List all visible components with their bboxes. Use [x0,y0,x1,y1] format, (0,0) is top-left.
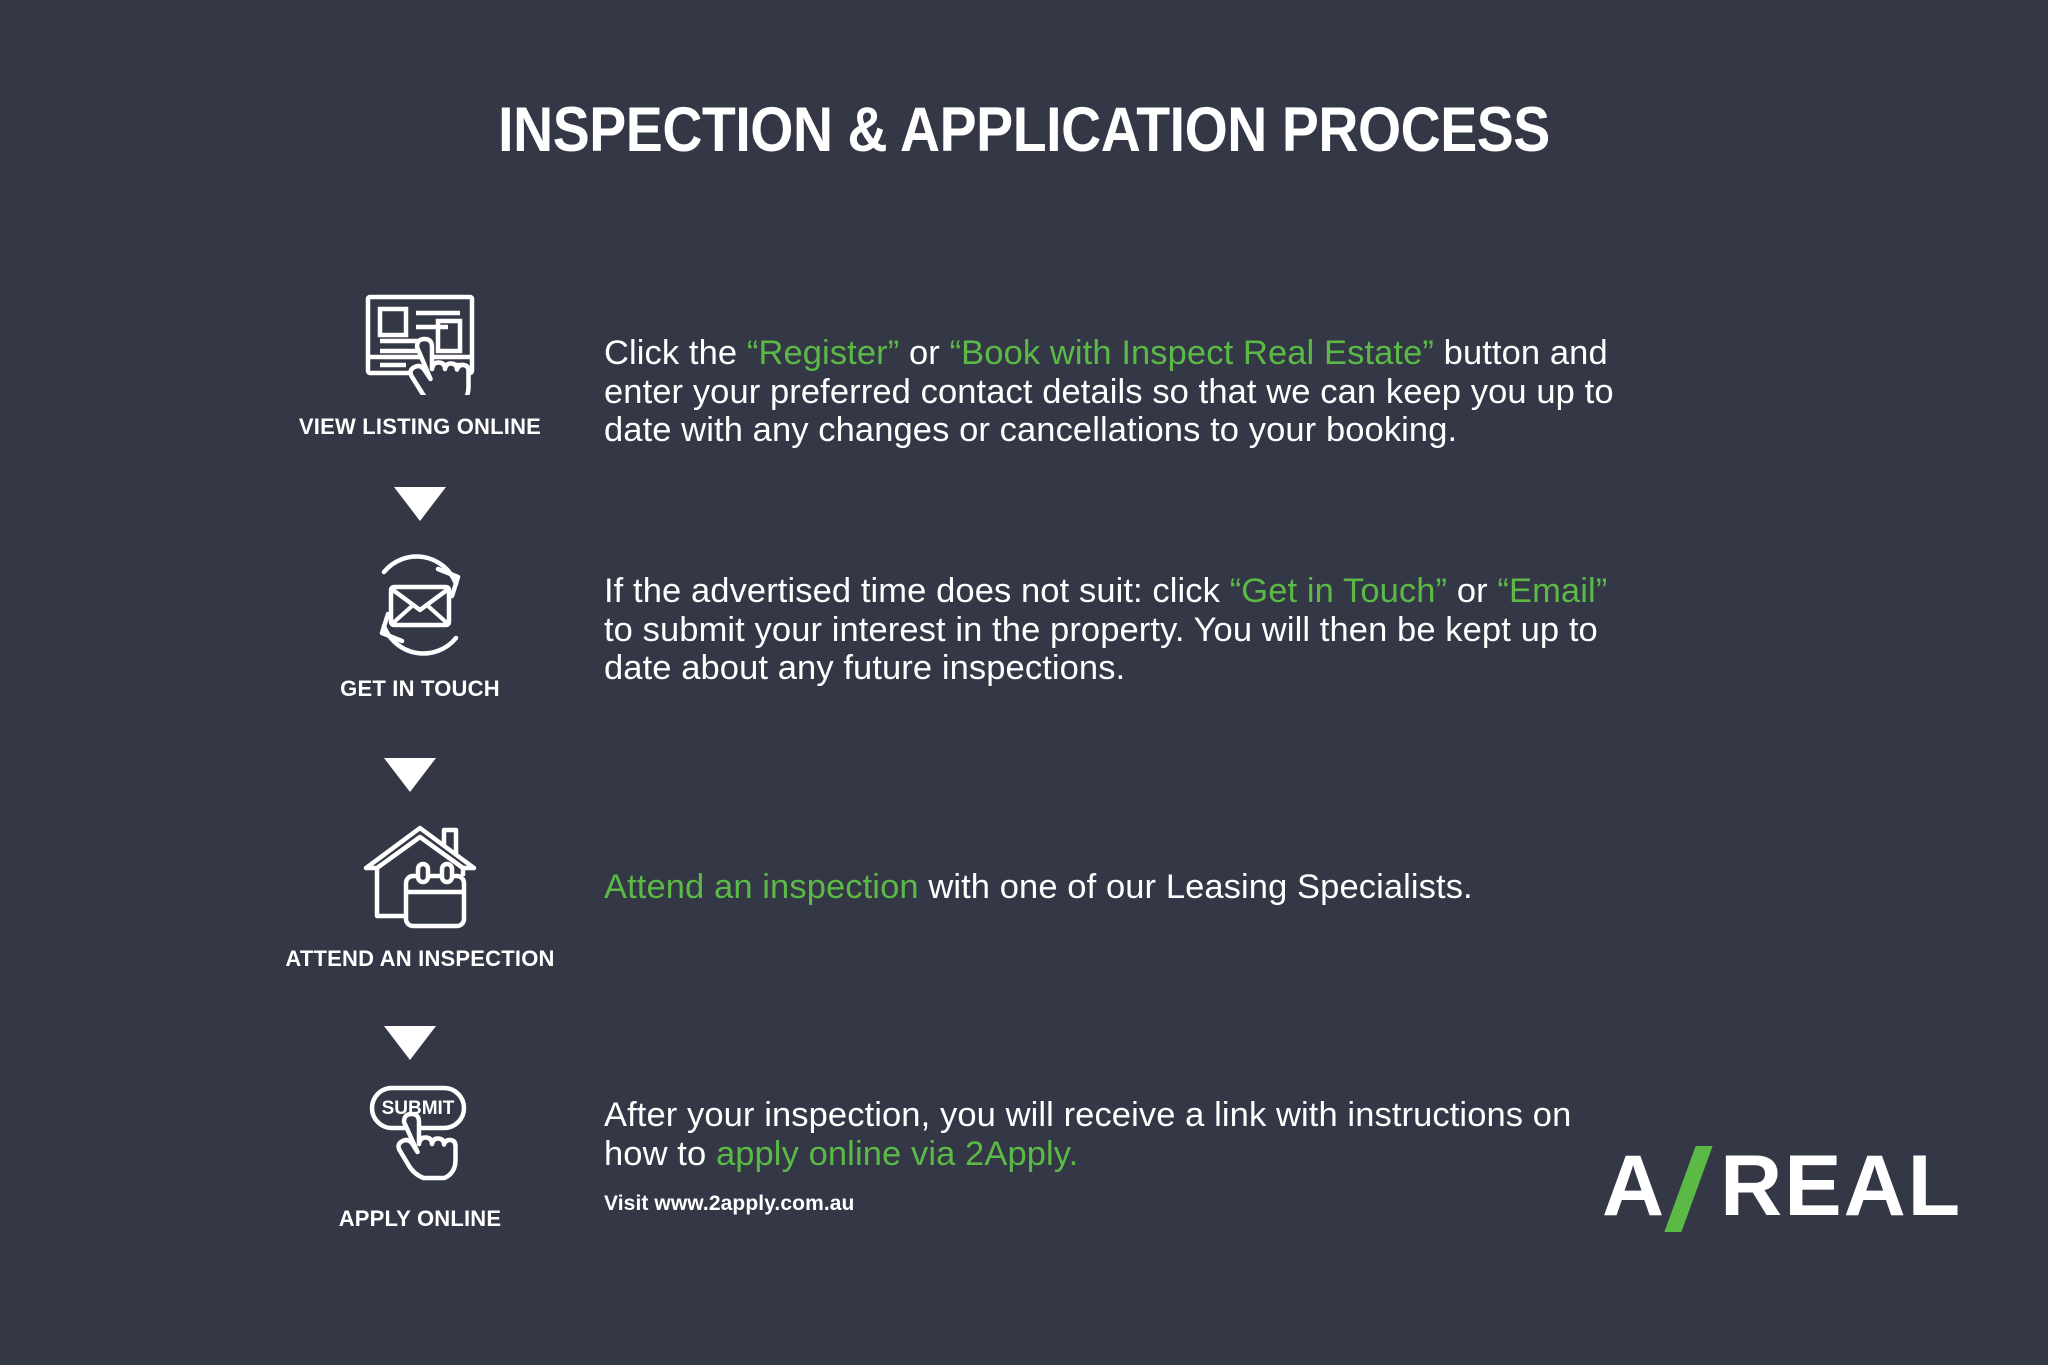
step-2-paragraph: If the advertised time does not suit: cl… [604,572,1614,688]
step-2-seg-1: “Get in Touch” [1230,572,1447,610]
step-4-icon-column: SUBMIT APPLY ONLINE [270,1080,570,1232]
step-2-seg-4: to submit your interest in the property.… [604,611,1598,688]
step-1-paragraph: Click the “Register” or “Book with Inspe… [604,334,1614,450]
step-1-icon-column: VIEW LISTING ONLINE [270,288,570,440]
house-calendar-icon [270,820,570,930]
step-arrow-1 [394,487,446,521]
step-3-seg-1: with one of our Leasing Specialists. [919,868,1473,906]
step-2-seg-2: or [1447,572,1497,610]
step-1-label: VIEW LISTING ONLINE [270,414,570,440]
step-4-label: APPLY ONLINE [270,1206,570,1232]
step-arrow-2 [384,758,436,792]
brand-logo: A REAL [1602,1140,1962,1232]
step-4-paragraph: After your inspection, you will receive … [604,1096,1614,1173]
step-3-icon-column: ATTEND AN INSPECTION [270,820,570,972]
step-1-body: Click the “Register” or “Book with Inspe… [604,334,1614,450]
step-3-paragraph: Attend an inspection with one of our Lea… [604,868,1614,907]
step-3-seg-0: Attend an inspection [604,868,919,906]
visit-website-note: Visit www.2apply.com.au [604,1192,855,1216]
logo-letter-a: A [1602,1137,1666,1236]
step-1-seg-0: Click the [604,334,747,372]
listing-page-pointer-icon [270,288,570,398]
infographic-canvas: INSPECTION & APPLICATION PROCESS [0,0,2048,1365]
step-4-seg-1: apply online via 2Apply. [716,1135,1078,1173]
submit-button-pointer-icon: SUBMIT [270,1080,570,1190]
step-1-seg-3: “Book with Inspect Real Estate” [950,334,1434,372]
step-2-body: If the advertised time does not suit: cl… [604,572,1614,688]
logo-word-real: REAL [1720,1137,1962,1236]
step-arrow-3 [384,1026,436,1060]
page-title: INSPECTION & APPLICATION PROCESS [123,94,1925,166]
envelope-refresh-icon [270,550,570,660]
step-2-label: GET IN TOUCH [270,676,570,702]
step-2-seg-0: If the advertised time does not suit: cl… [604,572,1230,610]
step-4-body: After your inspection, you will receive … [604,1096,1614,1173]
step-3-label: ATTEND AN INSPECTION [270,946,570,972]
step-1-seg-1: “Register” [747,334,899,372]
step-3-body: Attend an inspection with one of our Lea… [604,868,1614,907]
step-1-seg-2: or [899,334,949,372]
logo-slash-icon [1668,1142,1718,1230]
step-2-seg-3: “Email” [1497,572,1607,610]
step-2-icon-column: GET IN TOUCH [270,550,570,702]
